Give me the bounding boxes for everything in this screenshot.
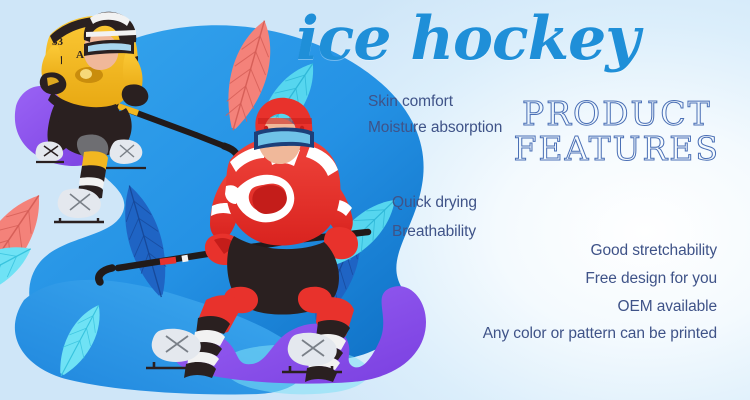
feature-moisture-absorption: Moisture absorption [368,119,502,137]
feature-skin-comfort: Skin comfort [368,93,453,111]
ice-hockey-product-banner: A 33 13 [0,0,750,400]
feature-good-stretchability: Good stretchability [591,242,717,260]
banner-title: ice hockey [296,9,639,69]
feature-free-design: Free design for you [585,270,717,288]
feature-quick-drying: Quick drying [392,194,477,212]
features-heading-line1: PRODUCT [514,96,720,131]
features-heading-line2: FEATURES [514,131,720,166]
feature-breathability: Breathability [392,223,476,241]
product-features-heading: PRODUCT FEATURES [514,96,720,166]
feature-any-color-pattern: Any color or pattern can be printed [483,325,717,343]
feature-oem-available: OEM available [618,298,718,316]
